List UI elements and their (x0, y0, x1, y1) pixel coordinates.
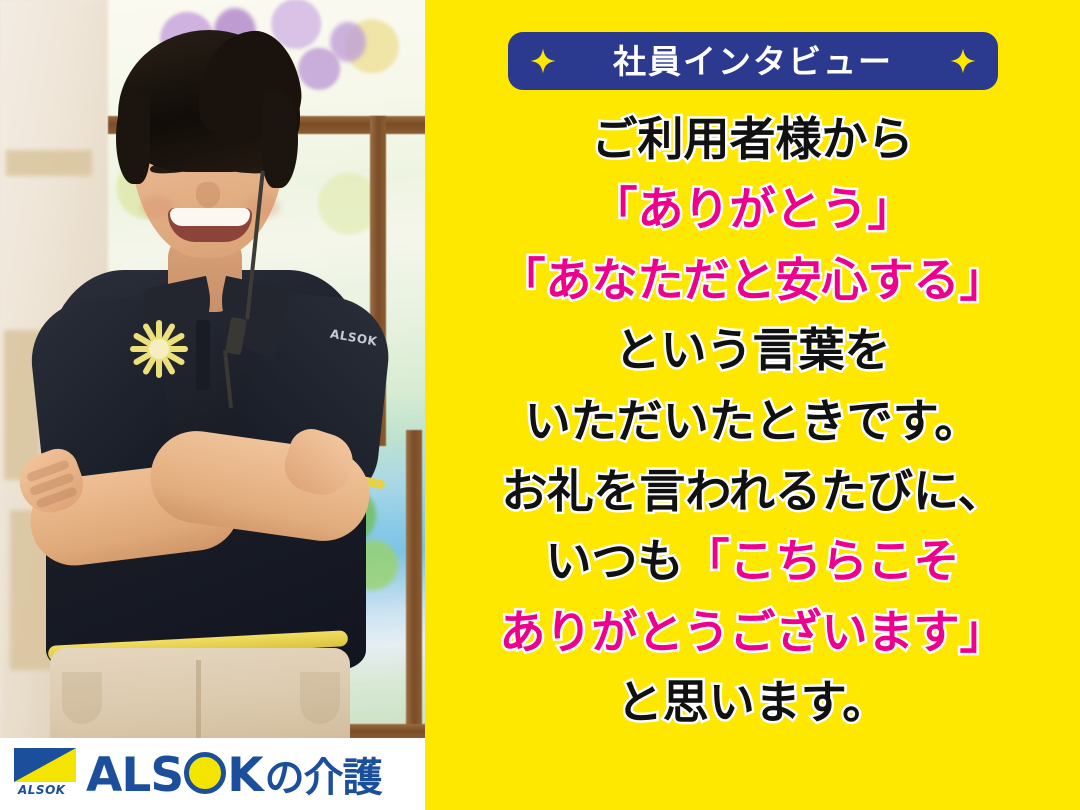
staff-photo: ALSOK (0, 0, 425, 810)
badge-title: 社員インタビュー (613, 45, 893, 78)
sparkle-icon (530, 48, 556, 74)
logo-bar: ALSOK ALS K の介護 (0, 738, 425, 810)
quote-segment: いただいたときです。 (525, 394, 980, 448)
yellow-content-panel: 社員インタビュー ご利用者様から 「ありがとう」 「あなただと安心する」 という… (425, 0, 1080, 810)
teeth (170, 208, 250, 226)
quote-segment: ご利用者様から (592, 112, 914, 166)
hair-side-left (116, 92, 150, 184)
pocket-right (300, 672, 340, 724)
quote-line: いただいたときです。 (425, 386, 1080, 456)
quote-line: 「ありがとう」 (425, 174, 1080, 244)
alsok-mark-label: ALSOK (18, 783, 66, 797)
logo-text-japanese: の介護 (265, 745, 382, 803)
quote-line: と思います。 (425, 667, 1080, 737)
alsok-wordmark: ALS K の介護 (86, 745, 382, 803)
sparkle-icon (950, 48, 976, 74)
quote-line: お礼を言われるたびに、 (425, 456, 1080, 526)
interview-badge: 社員インタビュー (508, 32, 998, 90)
alsok-diagonal-square-icon (14, 748, 76, 782)
quote-line: ご利用者様から (425, 104, 1080, 174)
quote-segment: いつも (546, 534, 684, 588)
quote-line: ありがとうございます」 (425, 597, 1080, 667)
quote-line: という言葉を (425, 315, 1080, 385)
smiling-mouth (168, 208, 252, 242)
quote-line: 「あなただと安心する」 (425, 245, 1080, 315)
quote-segment: 「こちらこそ (684, 534, 960, 588)
hair-side-right (262, 92, 298, 188)
quote-segment: お礼を言われるたびに、 (501, 464, 1003, 518)
quote-segment: という言葉を (615, 323, 891, 377)
quote-text-block: ご利用者様から 「ありがとう」 「あなただと安心する」 という言葉を いただいた… (425, 104, 1080, 737)
quote-segment: ありがとうございます」 (500, 605, 1006, 659)
shirt-placket (196, 320, 210, 390)
quote-line: いつも「こちらこそ (425, 526, 1080, 596)
quote-segment: 「ありがとう」 (592, 182, 914, 236)
quote-segment: 「あなただと安心する」 (500, 253, 1006, 307)
promo-graphic: ALSOK ALSOK ALS K (0, 0, 1080, 810)
emblem-core (149, 339, 169, 359)
logo-text-als: ALS (86, 748, 183, 803)
quote-segment: と思います。 (617, 675, 888, 729)
alsok-mark-icon: ALSOK (14, 748, 76, 800)
sunburst-emblem-icon (128, 318, 190, 380)
logo-o-circle-icon (184, 752, 226, 794)
logo-text-k: K (227, 748, 262, 803)
pocket-left (62, 672, 102, 724)
person-figure: ALSOK (0, 0, 425, 760)
nose (196, 182, 220, 208)
